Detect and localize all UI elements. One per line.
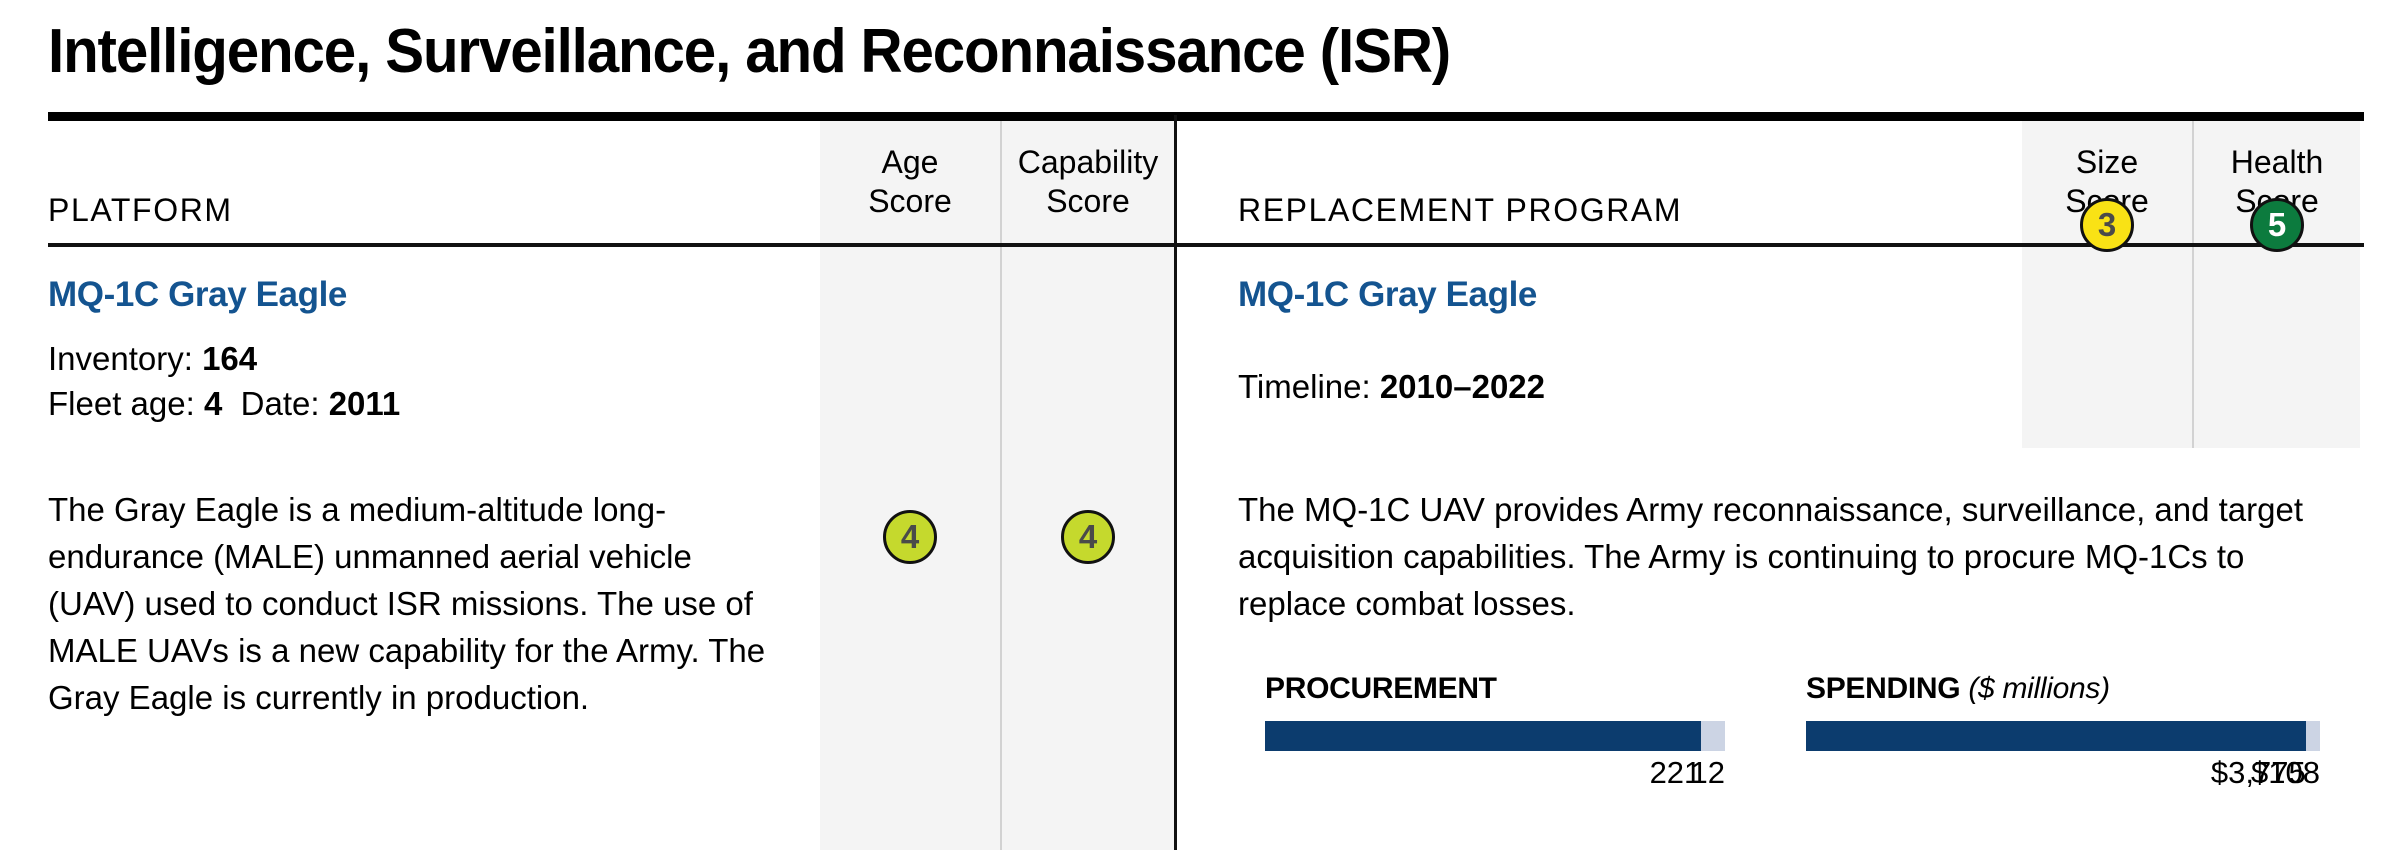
replacement-timeline-value: 2010–2022: [1380, 368, 1545, 405]
platform-description: The Gray Eagle is a medium-altitude long…: [48, 486, 788, 721]
header-rule: [48, 243, 2364, 247]
replacement-program-name: MQ-1C Gray Eagle: [1238, 275, 1537, 315]
badge-capability-score: 4: [1061, 510, 1115, 564]
header-capability-score-line2: Score: [1002, 182, 1174, 221]
page-title: Intelligence, Surveillance, and Reconnai…: [48, 16, 1450, 87]
badge-health-score: 5: [2250, 198, 2304, 252]
replacement-timeline: Timeline: 2010–2022: [1238, 368, 1545, 406]
procurement-chart: PROCUREMENT 221 12: [1265, 672, 1725, 799]
replacement-description: The MQ-1C UAV provides Army reconnaissan…: [1238, 486, 2308, 627]
spending-bar-segment-spent: [1806, 721, 2306, 751]
procurement-title-text: PROCUREMENT: [1265, 672, 1497, 705]
header-capability-score-line1: Capability: [1002, 143, 1174, 182]
platform-name: MQ-1C Gray Eagle: [48, 275, 347, 315]
procurement-bar-segment-remaining: [1701, 721, 1725, 751]
header-health-score-line1: Health: [2194, 143, 2360, 182]
isr-platform-sheet: Intelligence, Surveillance, and Reconnai…: [0, 0, 2400, 850]
header-replacement-program: REPLACEMENT PROGRAM: [1238, 192, 1682, 229]
badge-size-score: 3: [2080, 198, 2134, 252]
procurement-bar-track: [1265, 721, 1725, 751]
badge-age-score: 4: [883, 510, 937, 564]
header-age-score: Age Score: [820, 143, 1000, 221]
spending-bar-values: $3,775 $108: [1806, 755, 2320, 799]
header-age-score-line1: Age: [820, 143, 1000, 182]
platform-inventory: Inventory: 164: [48, 340, 257, 378]
procurement-bar-segment-delivered: [1265, 721, 1701, 751]
age-score-column-shade: [820, 121, 1000, 850]
spending-value-secondary: $108: [2251, 755, 2320, 791]
platform-inventory-value: 164: [202, 340, 257, 377]
spending-chart: SPENDING ($ millions) $3,775 $108: [1806, 672, 2320, 799]
platform-fleet-age-date: Fleet age: 4 Date: 2011: [48, 385, 400, 423]
platform-inventory-label: Inventory:: [48, 340, 202, 377]
platform-fleet-age-value: 4: [204, 385, 222, 422]
spending-title-text: SPENDING: [1806, 672, 1960, 705]
replacement-timeline-label: Timeline:: [1238, 368, 1380, 405]
platform-date-label: Date:: [241, 385, 329, 422]
column-divider-age-capability: [1000, 121, 1002, 850]
header-size-score-line1: Size: [2022, 143, 2192, 182]
platform-fleet-age-label: Fleet age:: [48, 385, 204, 422]
procurement-chart-title: PROCUREMENT: [1265, 672, 1725, 706]
spending-title-unit: ($ millions): [1968, 672, 2109, 705]
spending-bar-segment-remaining: [2306, 721, 2320, 751]
spending-bar-track: [1806, 721, 2320, 751]
spending-chart-title: SPENDING ($ millions): [1806, 672, 2320, 706]
title-rule: [48, 112, 2364, 121]
procurement-bar-values: 221 12: [1265, 755, 1725, 799]
capability-score-column-shade: [1002, 121, 1174, 850]
header-capability-score: Capability Score: [1002, 143, 1174, 221]
platform-date-value: 2011: [329, 385, 401, 422]
header-age-score-line2: Score: [820, 182, 1000, 221]
section-divider-vertical: [1174, 115, 1177, 850]
procurement-value-secondary: 12: [1691, 755, 1725, 791]
header-platform: PLATFORM: [48, 192, 233, 229]
